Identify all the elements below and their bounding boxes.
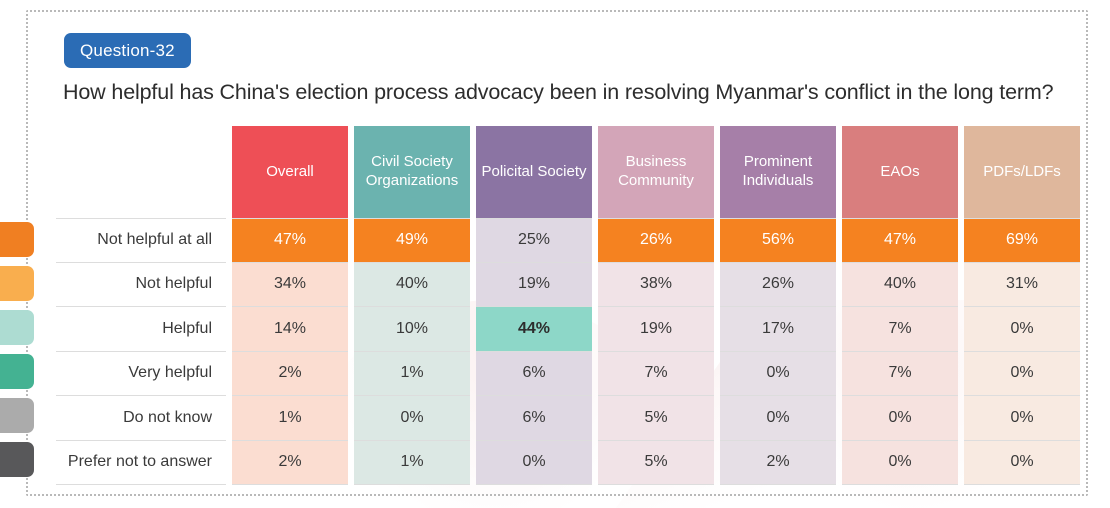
cell-r4-c2: 6% <box>476 396 592 441</box>
cell-r2-c5: 7% <box>842 307 958 352</box>
response-matrix: OverallCivil Society OrganizationsPolici… <box>50 126 1086 485</box>
cell-r5-c4: 2% <box>720 441 836 486</box>
table-row: Helpful14%10%44%19%17%7%0% <box>56 307 1080 352</box>
cell-value: 40% <box>354 263 470 307</box>
cell-value: 1% <box>232 396 348 440</box>
cell-value: 19% <box>476 263 592 307</box>
cell-r0-c1: 49% <box>354 218 470 263</box>
cell-value: 26% <box>598 219 714 262</box>
cell-r1-c2: 19% <box>476 263 592 308</box>
cell-value: 0% <box>964 396 1080 440</box>
column-header-1: Civil Society Organizations <box>354 126 470 218</box>
cell-value: 47% <box>842 219 958 262</box>
cell-r4-c6: 0% <box>964 396 1080 441</box>
column-header-6: PDFs/LDFs <box>964 126 1080 218</box>
row-label-4: Do not know <box>56 396 226 441</box>
cell-r5-c1: 1% <box>354 441 470 486</box>
cell-r3-c3: 7% <box>598 352 714 397</box>
swatch-light-teal <box>0 310 34 345</box>
cell-value: 0% <box>842 396 958 440</box>
swatch-teal <box>0 354 34 389</box>
cell-r1-c6: 31% <box>964 263 1080 308</box>
legend-swatch-strip <box>0 222 34 486</box>
cell-value: 0% <box>354 396 470 440</box>
cell-value: 69% <box>964 219 1080 262</box>
cell-r3-c2: 6% <box>476 352 592 397</box>
cell-value: 7% <box>598 352 714 396</box>
row-label-0: Not helpful at all <box>56 218 226 263</box>
cell-value: 49% <box>354 219 470 262</box>
cell-r4-c0: 1% <box>232 396 348 441</box>
cell-r1-c5: 40% <box>842 263 958 308</box>
cell-value: 2% <box>232 441 348 485</box>
page-title: How helpful has China's election process… <box>63 80 1083 105</box>
cell-r0-c4: 56% <box>720 218 836 263</box>
cell-value: 56% <box>720 219 836 262</box>
cell-value: 40% <box>842 263 958 307</box>
table-row: Very helpful2%1%6%7%0%7%0% <box>56 352 1080 397</box>
slide-root: Question-32 How helpful has China's elec… <box>0 0 1110 508</box>
cell-value: 0% <box>720 352 836 396</box>
question-badge: Question-32 <box>64 33 191 68</box>
cell-value: 44% <box>476 307 592 351</box>
cell-r3-c4: 0% <box>720 352 836 397</box>
cell-value: 0% <box>720 396 836 440</box>
cell-value: 19% <box>598 307 714 351</box>
cell-r4-c3: 5% <box>598 396 714 441</box>
cell-r1-c3: 38% <box>598 263 714 308</box>
swatch-orange <box>0 222 34 257</box>
cell-r1-c4: 26% <box>720 263 836 308</box>
table-row: Do not know1%0%6%5%0%0%0% <box>56 396 1080 441</box>
cell-r2-c3: 19% <box>598 307 714 352</box>
swatch-dark-gray <box>0 442 34 477</box>
cell-r3-c6: 0% <box>964 352 1080 397</box>
cell-r1-c0: 34% <box>232 263 348 308</box>
swatch-gray <box>0 398 34 433</box>
column-header-2: Policital Society <box>476 126 592 218</box>
column-header-4: Prominent Individuals <box>720 126 836 218</box>
column-header-0: Overall <box>232 126 348 218</box>
table-row: Not helpful at all47%49%25%26%56%47%69% <box>56 218 1080 263</box>
cell-value: 31% <box>964 263 1080 307</box>
cell-value: 1% <box>354 441 470 485</box>
cell-r4-c1: 0% <box>354 396 470 441</box>
cell-value: 26% <box>720 263 836 307</box>
cell-r4-c5: 0% <box>842 396 958 441</box>
cell-value: 7% <box>842 307 958 351</box>
cell-r0-c3: 26% <box>598 218 714 263</box>
cell-value: 5% <box>598 441 714 485</box>
cell-r4-c4: 0% <box>720 396 836 441</box>
cell-r3-c5: 7% <box>842 352 958 397</box>
row-label-1: Not helpful <box>56 263 226 308</box>
cell-value: 0% <box>842 441 958 485</box>
cell-value: 47% <box>232 219 348 262</box>
row-label-3: Very helpful <box>56 352 226 397</box>
cell-r1-c1: 40% <box>354 263 470 308</box>
table-corner-cell <box>56 126 226 218</box>
cell-r5-c0: 2% <box>232 441 348 486</box>
cell-value: 14% <box>232 307 348 351</box>
cell-value: 0% <box>964 441 1080 485</box>
cell-r0-c6: 69% <box>964 218 1080 263</box>
cell-r2-c2: 44% <box>476 307 592 352</box>
table-header-row: OverallCivil Society OrganizationsPolici… <box>56 126 1080 218</box>
cell-value: 38% <box>598 263 714 307</box>
cell-r2-c6: 0% <box>964 307 1080 352</box>
cell-value: 0% <box>476 441 592 485</box>
cell-r2-c1: 10% <box>354 307 470 352</box>
cell-value: 5% <box>598 396 714 440</box>
cell-value: 17% <box>720 307 836 351</box>
table-row: Prefer not to answer2%1%0%5%2%0%0% <box>56 441 1080 486</box>
question-badge-label: Question-32 <box>80 41 175 61</box>
cell-value: 10% <box>354 307 470 351</box>
row-label-2: Helpful <box>56 307 226 352</box>
cell-value: 1% <box>354 352 470 396</box>
cell-r5-c5: 0% <box>842 441 958 486</box>
column-header-5: EAOs <box>842 126 958 218</box>
column-header-3: Business Community <box>598 126 714 218</box>
cell-r5-c3: 5% <box>598 441 714 486</box>
cell-r0-c2: 25% <box>476 218 592 263</box>
cell-r3-c0: 2% <box>232 352 348 397</box>
table-body: Not helpful at all47%49%25%26%56%47%69%N… <box>56 218 1080 485</box>
cell-value: 34% <box>232 263 348 307</box>
swatch-light-orange <box>0 266 34 301</box>
cell-value: 25% <box>476 219 592 262</box>
cell-r2-c0: 14% <box>232 307 348 352</box>
cell-value: 2% <box>232 352 348 396</box>
row-label-5: Prefer not to answer <box>56 441 226 486</box>
cell-value: 0% <box>964 352 1080 396</box>
cell-value: 6% <box>476 352 592 396</box>
cell-r5-c6: 0% <box>964 441 1080 486</box>
cell-value: 0% <box>964 307 1080 351</box>
cell-value: 2% <box>720 441 836 485</box>
cell-value: 6% <box>476 396 592 440</box>
table-row: Not helpful34%40%19%38%26%40%31% <box>56 263 1080 308</box>
cell-r3-c1: 1% <box>354 352 470 397</box>
cell-r0-c0: 47% <box>232 218 348 263</box>
cell-value: 7% <box>842 352 958 396</box>
cell-r0-c5: 47% <box>842 218 958 263</box>
response-matrix-table: OverallCivil Society OrganizationsPolici… <box>50 126 1086 485</box>
cell-r5-c2: 0% <box>476 441 592 486</box>
cell-r2-c4: 17% <box>720 307 836 352</box>
